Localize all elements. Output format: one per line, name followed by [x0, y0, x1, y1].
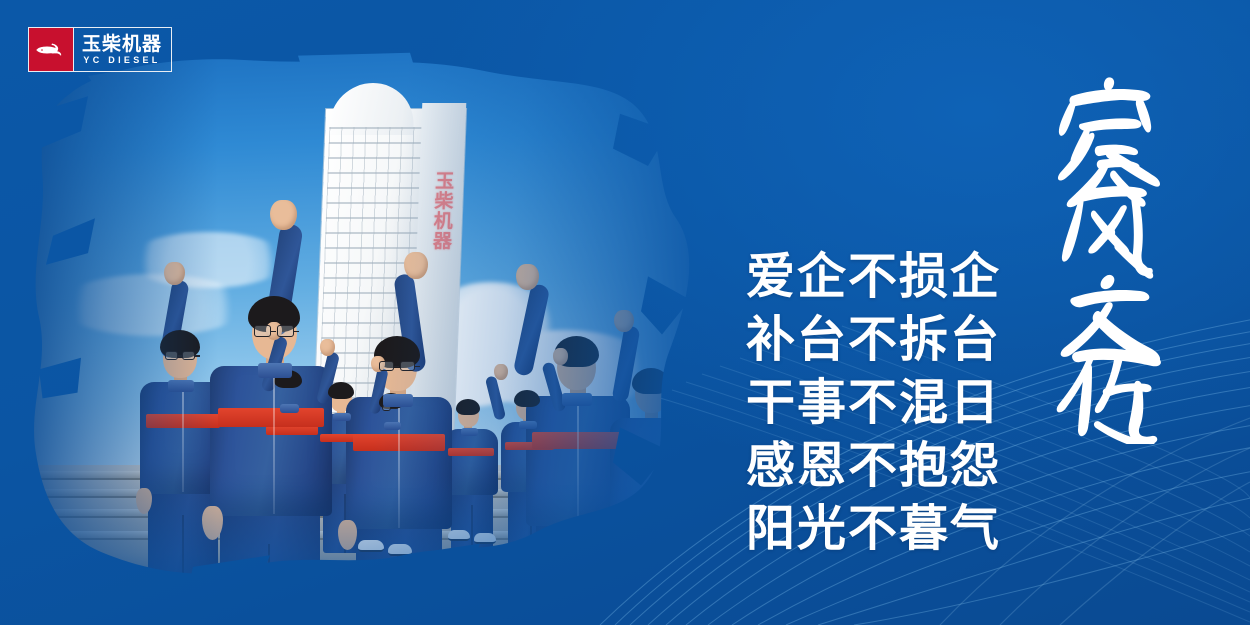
logo-text-block: 玉柴机器 YC DIESEL — [74, 28, 171, 71]
culture-banner: 玉柴机器 — [0, 0, 1250, 625]
slogan-line-3: 干事不混日 — [746, 372, 1001, 435]
logo-red-box — [29, 28, 74, 71]
slogan-line-4: 感恩不抱怨 — [746, 435, 1001, 498]
calli-char-hua — [1057, 352, 1158, 444]
slogan-line-1: 爱企不损企 — [746, 246, 1001, 309]
logo-name-en: YC DIESEL — [82, 55, 162, 66]
slogan-line-5: 阳光不暮气 — [746, 498, 1001, 561]
slogan-line-2: 补台不拆台 — [746, 309, 1001, 372]
yuchai-fish-icon — [35, 42, 65, 57]
calligraphy-strokes — [1050, 72, 1178, 444]
logo-name-cn: 玉柴机器 — [82, 34, 162, 55]
hero-photo: 玉柴机器 — [18, 44, 718, 625]
slogan-block: 爱企不损企 补台不拆台 干事不混日 感恩不抱怨 阳光不暮气 — [746, 246, 1001, 561]
brand-logo[interactable]: 玉柴机器 YC DIESEL — [28, 27, 172, 72]
photo-inner: 玉柴机器 — [18, 44, 718, 625]
headline-calligraphy — [1050, 72, 1178, 444]
calli-char-wen — [1061, 275, 1161, 366]
photo-blue-overlay-left — [18, 44, 218, 625]
